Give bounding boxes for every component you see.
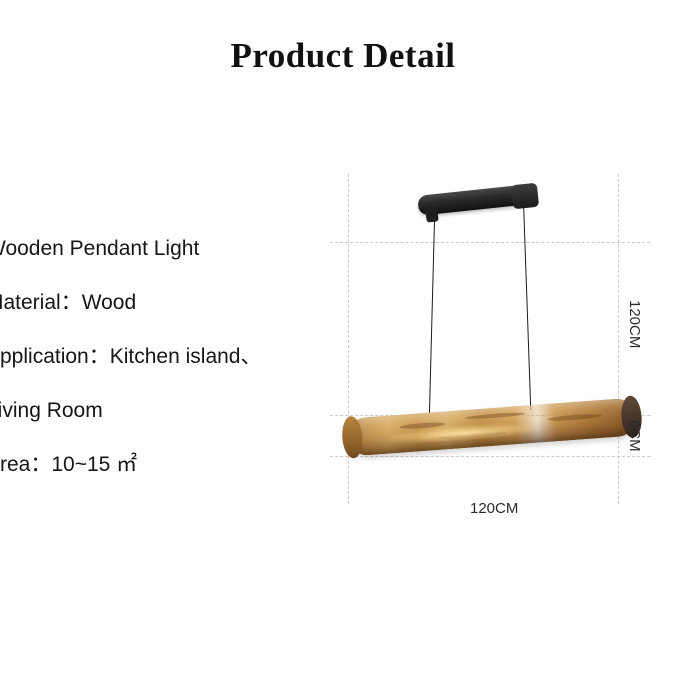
page-title: Product Detail: [0, 36, 686, 76]
dimension-width-label: 120CM: [470, 500, 518, 517]
wood-lamp-body: [346, 392, 637, 465]
spec-product-name: Wooden Pendant Light: [0, 222, 346, 276]
product-spec-list: Wooden Pendant Light Material：Wood Appli…: [0, 222, 346, 492]
lamp-canopy-nipple: [425, 207, 438, 222]
spec-area: Area：10~15 ㎡: [0, 438, 346, 492]
spec-application: Application：Kitchen island、: [0, 330, 346, 384]
product-photo: 120CM 6CM 120CM: [330, 160, 650, 520]
lamp-canopy-cap: [511, 183, 539, 210]
spec-application-cont: Living Room: [0, 384, 346, 438]
guide-line-top: [330, 242, 650, 243]
guide-line-right: [618, 174, 619, 504]
dimension-height-label: 120CM: [626, 300, 643, 348]
dimension-thickness-label: 6CM: [626, 420, 643, 452]
spec-material: Material：Wood: [0, 276, 346, 330]
suspension-cord-right: [523, 202, 531, 410]
suspension-cord-left: [429, 220, 435, 420]
